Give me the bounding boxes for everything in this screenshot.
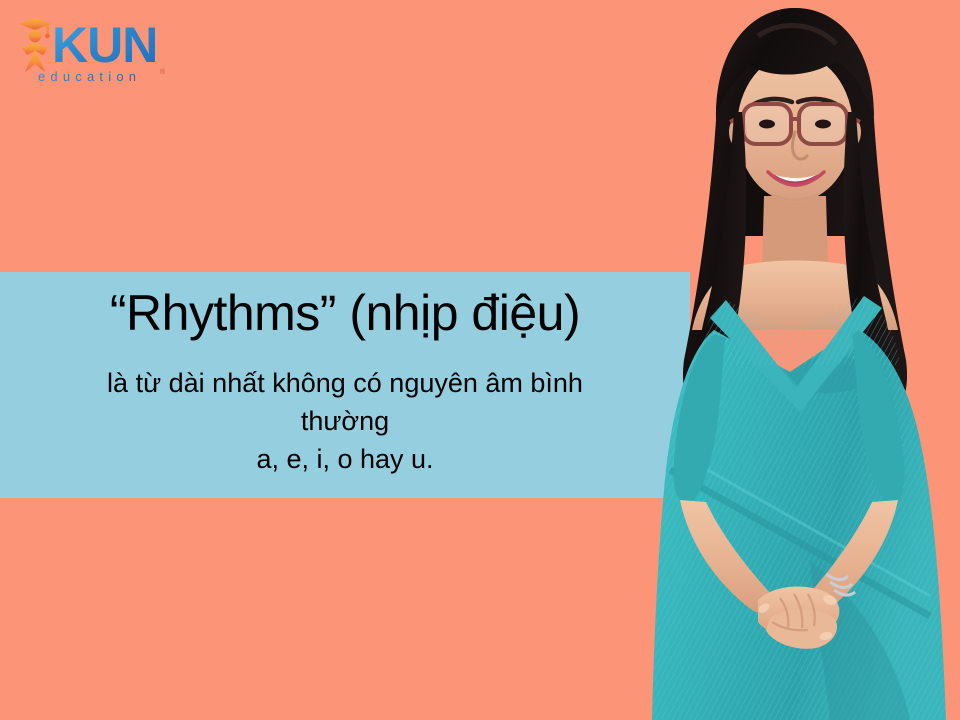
body-line-2: thường bbox=[0, 402, 690, 440]
body-line-1: là từ dài nhất không có nguyên âm bình bbox=[0, 364, 690, 402]
kun-education-logo: KUN education ® bbox=[12, 10, 177, 88]
dress bbox=[630, 280, 960, 720]
presenter-photo bbox=[630, 0, 960, 720]
neck bbox=[762, 196, 828, 268]
caption-band: “Rhythms” (nhịp điệu) là từ dài nhất khô… bbox=[0, 272, 690, 498]
slide-body: là từ dài nhất không có nguyên âm bình t… bbox=[0, 364, 690, 478]
slide-title: “Rhythms” (nhịp điệu) bbox=[0, 284, 690, 342]
body-line-3: a, e, i, o hay u. bbox=[0, 440, 690, 478]
slide-canvas: KUN education ® bbox=[0, 0, 960, 720]
graduate-person-icon bbox=[19, 18, 51, 72]
svg-text:®: ® bbox=[160, 68, 166, 76]
svg-text:KUN: KUN bbox=[52, 17, 157, 73]
kun-wordmark: KUN bbox=[52, 17, 157, 73]
svg-text:education: education bbox=[38, 69, 141, 84]
